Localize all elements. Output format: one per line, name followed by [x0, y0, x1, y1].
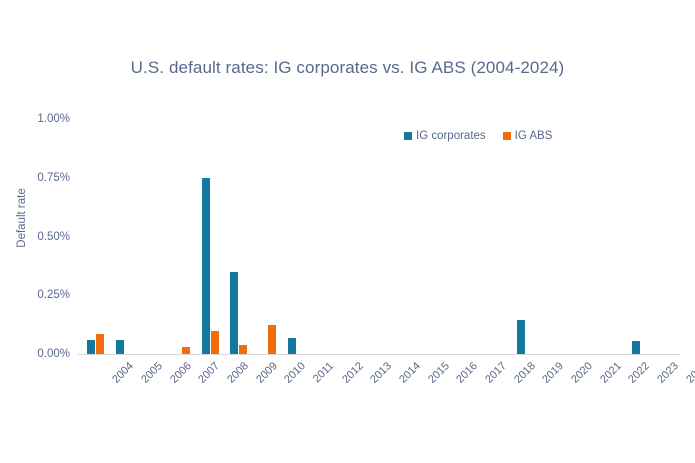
bar-group	[451, 119, 480, 354]
y-axis-tick-label: 0.25%	[12, 289, 70, 301]
bar-group	[221, 119, 250, 354]
x-axis-tick-label: 2004	[110, 360, 136, 386]
x-axis-tick-label: 2007	[196, 360, 222, 386]
y-axis-tick-label: 0.50%	[12, 231, 70, 243]
x-axis-line	[78, 354, 680, 355]
bar-group	[422, 119, 451, 354]
bar-group	[279, 119, 308, 354]
bar[interactable]	[632, 341, 640, 354]
bar-group	[107, 119, 136, 354]
x-axis-tick-label: 2017	[483, 360, 509, 386]
x-axis-tick-label: 2013	[368, 360, 394, 386]
y-axis-tick-labels: 0.00%0.25%0.50%0.75%1.00%	[8, 0, 70, 463]
bar[interactable]	[239, 345, 247, 354]
bar-group	[623, 119, 652, 354]
bar[interactable]	[96, 334, 104, 354]
bar-group	[135, 119, 164, 354]
x-axis-tick-label: 2019	[540, 360, 566, 386]
bar-group	[651, 119, 680, 354]
x-axis-tick-label: 2018	[512, 360, 538, 386]
bar[interactable]	[116, 340, 124, 354]
bar-group	[336, 119, 365, 354]
bar-group	[164, 119, 193, 354]
bar-group	[78, 119, 107, 354]
x-axis-tick-label: 2016	[454, 360, 480, 386]
y-axis-tick-label: 1.00%	[12, 113, 70, 125]
bar-group	[393, 119, 422, 354]
bar[interactable]	[230, 272, 238, 354]
bar[interactable]	[87, 340, 95, 354]
bar[interactable]	[517, 320, 525, 354]
x-axis-tick-label: 2014	[397, 360, 423, 386]
bar-group	[565, 119, 594, 354]
bar[interactable]	[288, 338, 296, 354]
x-axis-tick-label: 2024	[684, 360, 695, 386]
x-axis-tick-label: 2015	[426, 360, 452, 386]
bar[interactable]	[268, 325, 276, 354]
bar-group	[594, 119, 623, 354]
y-axis-tick-label: 0.75%	[12, 172, 70, 184]
chart-container: U.S. default rates: IG corporates vs. IG…	[0, 0, 695, 463]
bar-group	[307, 119, 336, 354]
x-axis-tick-label: 2006	[168, 360, 194, 386]
x-axis-tick-label: 2020	[569, 360, 595, 386]
bar-group	[537, 119, 566, 354]
x-axis-tick-label: 2022	[626, 360, 652, 386]
x-axis-tick-label: 2009	[254, 360, 280, 386]
x-axis-tick-label: 2011	[311, 360, 336, 385]
bar[interactable]	[211, 331, 219, 355]
bar-group	[479, 119, 508, 354]
x-axis-tick-labels: 2004200520062007200820092010201120122013…	[78, 358, 680, 408]
x-axis-tick-label: 2008	[225, 360, 251, 386]
plot-area	[78, 119, 680, 354]
x-axis-tick-label: 2005	[139, 360, 165, 386]
chart-title: U.S. default rates: IG corporates vs. IG…	[0, 58, 695, 78]
bar-group	[365, 119, 394, 354]
bar[interactable]	[182, 347, 190, 354]
x-axis-tick-label: 2023	[655, 360, 681, 386]
x-axis-tick-label: 2012	[340, 360, 366, 386]
bar[interactable]	[202, 178, 210, 354]
x-axis-tick-label: 2021	[598, 360, 624, 386]
x-axis-tick-label: 2010	[282, 360, 308, 386]
bar-group	[250, 119, 279, 354]
y-axis-tick-label: 0.00%	[12, 348, 70, 360]
bar-group	[508, 119, 537, 354]
bar-group	[193, 119, 222, 354]
